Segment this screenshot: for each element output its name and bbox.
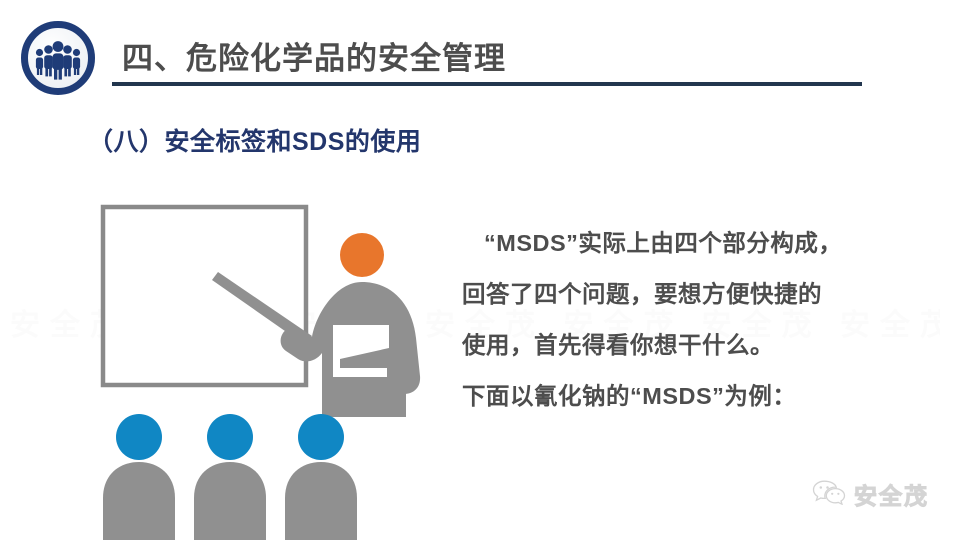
student-3 (285, 414, 357, 540)
body-paragraph: “MSDS”实际上由四个部分构成， 回答了四个问题，要想方便快捷的 使用，首先得… (462, 218, 917, 422)
slide-canvas: 安全茂 安全茂 安全茂 安全茂 安全茂 安全茂 安全茂 (0, 0, 960, 540)
people-group-circle-icon (20, 20, 96, 96)
student-head (207, 414, 253, 460)
classroom-training-illustration (90, 198, 435, 540)
student-2 (194, 414, 266, 540)
section-subtitle: （八）安全标签和SDS的使用 (88, 122, 421, 158)
student-body (285, 462, 357, 540)
student-head (116, 414, 162, 460)
teacher-head (340, 233, 384, 277)
body-line: 使用，首先得看你想干什么。 (462, 320, 917, 371)
student-1 (103, 414, 175, 540)
page-title: 四、危险化学品的安全管理 (122, 33, 506, 78)
corner-watermark: 安全茂 (812, 477, 929, 511)
header-divider (112, 82, 862, 86)
watermark-label: 安全茂 (854, 477, 929, 511)
teacher-torso (322, 384, 406, 417)
student-body (194, 462, 266, 540)
body-line: 回答了四个问题，要想方便快捷的 (462, 269, 917, 320)
body-line: “MSDS”实际上由四个部分构成， (462, 218, 917, 269)
whiteboard (103, 207, 306, 385)
student-figures (103, 414, 357, 540)
body-line: 下面以氰化钠的“MSDS”为例： (462, 371, 917, 422)
student-head (298, 414, 344, 460)
wechat-icon (812, 479, 846, 510)
student-body (103, 462, 175, 540)
